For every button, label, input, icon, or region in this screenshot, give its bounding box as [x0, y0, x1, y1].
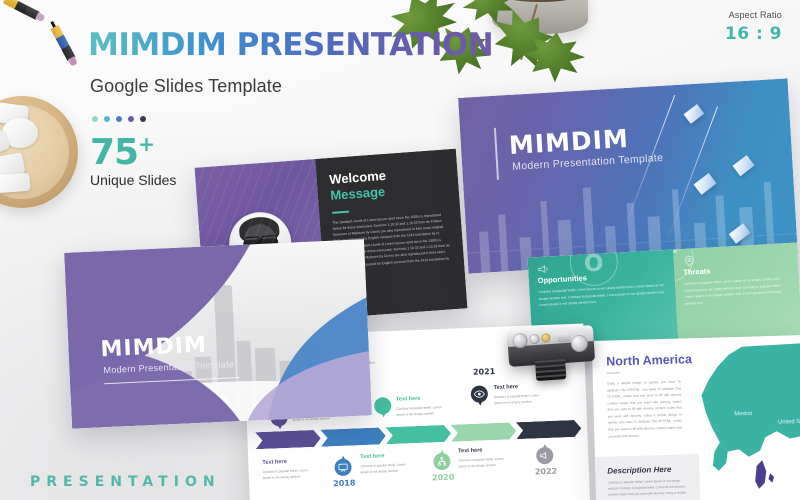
na-description-body: Contrary to popular belief, Lorem Ipsum …: [608, 477, 689, 500]
timeline-marker-label: Text here: [360, 453, 385, 460]
na-title: North America: [606, 352, 692, 368]
na-body-text: Using a simple design to syntax, you hav…: [607, 379, 683, 440]
network-icon: [436, 456, 447, 467]
footer-label: PRESENTATION: [30, 474, 221, 490]
color-swatch-dots: [92, 116, 146, 122]
presentation-icon: [337, 462, 348, 473]
map-label-mexico: Mexico: [734, 411, 752, 418]
eraser: [0, 173, 31, 193]
swot-body: Contrary to popular belief, Lorem Ipsum …: [538, 282, 667, 309]
slide-north-america[interactable]: Mexico United S North America Using a si…: [592, 335, 800, 500]
swot-body: Contrary to popular belief, Lorem Ipsum …: [684, 275, 792, 307]
divider: [332, 210, 349, 213]
timeline-year: 2021: [473, 367, 496, 377]
page-subtitle: Google Slides Template: [90, 76, 282, 97]
swatch-dot: [140, 116, 146, 122]
swot-title: Threats: [683, 262, 790, 277]
timeline-marker-5[interactable]: [471, 385, 489, 409]
na-title-dark: North: [606, 354, 643, 369]
swot-column-threats[interactable]: Threats Contrary to popular belief, Lore…: [673, 243, 800, 348]
timeline-marker-body: Contrary to popular belief. Lorem ipsum …: [396, 404, 444, 418]
timeline-year: 2018: [333, 478, 356, 488]
timeline-year: 2020: [432, 473, 455, 483]
timeline-segment: [255, 430, 321, 449]
timeline-marker-label: Text here: [396, 396, 421, 403]
timeline-marker-body: Contrary to popular belief. Lorem ipsum …: [263, 467, 311, 481]
megaphone-icon: [539, 450, 550, 461]
timeline-marker-body: Contrary to popular belief. Lorem ipsum …: [458, 456, 506, 470]
timeline-marker-label: Text here: [262, 459, 287, 466]
timeline-segment: [385, 425, 451, 444]
na-description-title: Description Here: [607, 464, 687, 475]
slide-count-label: Unique Slides: [90, 172, 176, 188]
timeline-year: 2022: [535, 467, 558, 477]
pencil-yellow-icon: [2, 0, 48, 26]
aspect-ratio-label: Aspect Ratio: [729, 10, 782, 20]
megaphone-icon: [537, 262, 551, 276]
swatch-dot: [128, 116, 134, 122]
timeline-marker-6[interactable]: [536, 441, 554, 465]
na-title-accent: America: [642, 352, 692, 367]
timeline-marker-3[interactable]: [374, 397, 392, 421]
pencil-blue-icon: [46, 19, 80, 69]
na-description-box: Description Here Contrary to popular bel…: [595, 454, 700, 500]
slide-cover-mimdim[interactable]: MIMDIM Modern Presentation Template: [64, 239, 372, 428]
timeline-segment: [516, 420, 582, 439]
swatch-dot: [92, 116, 98, 122]
timeline-marker-4[interactable]: [433, 447, 451, 471]
divider: [607, 372, 620, 374]
timeline-marker-body: Contrary to popular belief. Lorem ipsum …: [360, 461, 408, 475]
timeline-marker-body: Contrary to popular belief. Lorem ipsum …: [494, 392, 542, 406]
glasses-icon: [243, 235, 277, 244]
vintage-camera: [507, 325, 595, 367]
timeline-segment: [320, 427, 386, 446]
timeline-marker-label: Text here: [494, 384, 519, 391]
swatch-dot: [116, 116, 122, 122]
timeline-marker-label: Text here: [458, 448, 483, 455]
swatch-dot: [104, 116, 110, 122]
map-label-united-states: United S: [778, 419, 800, 426]
cover-title: MIMDIM: [100, 333, 207, 363]
timeline-marker-2[interactable]: [334, 453, 352, 477]
timeline-bar: [255, 420, 581, 450]
slide-count: 75+: [90, 132, 154, 173]
swot-letter-t: T: [673, 243, 695, 283]
eye-icon: [474, 388, 485, 399]
poster-canvas: MIMDIM PRESENTATION Google Slides Templa…: [0, 0, 800, 500]
page-title: MIMDIM PRESENTATION: [88, 30, 493, 61]
aspect-ratio-value: 16 : 9: [725, 24, 782, 44]
timeline-segment: [451, 422, 517, 441]
